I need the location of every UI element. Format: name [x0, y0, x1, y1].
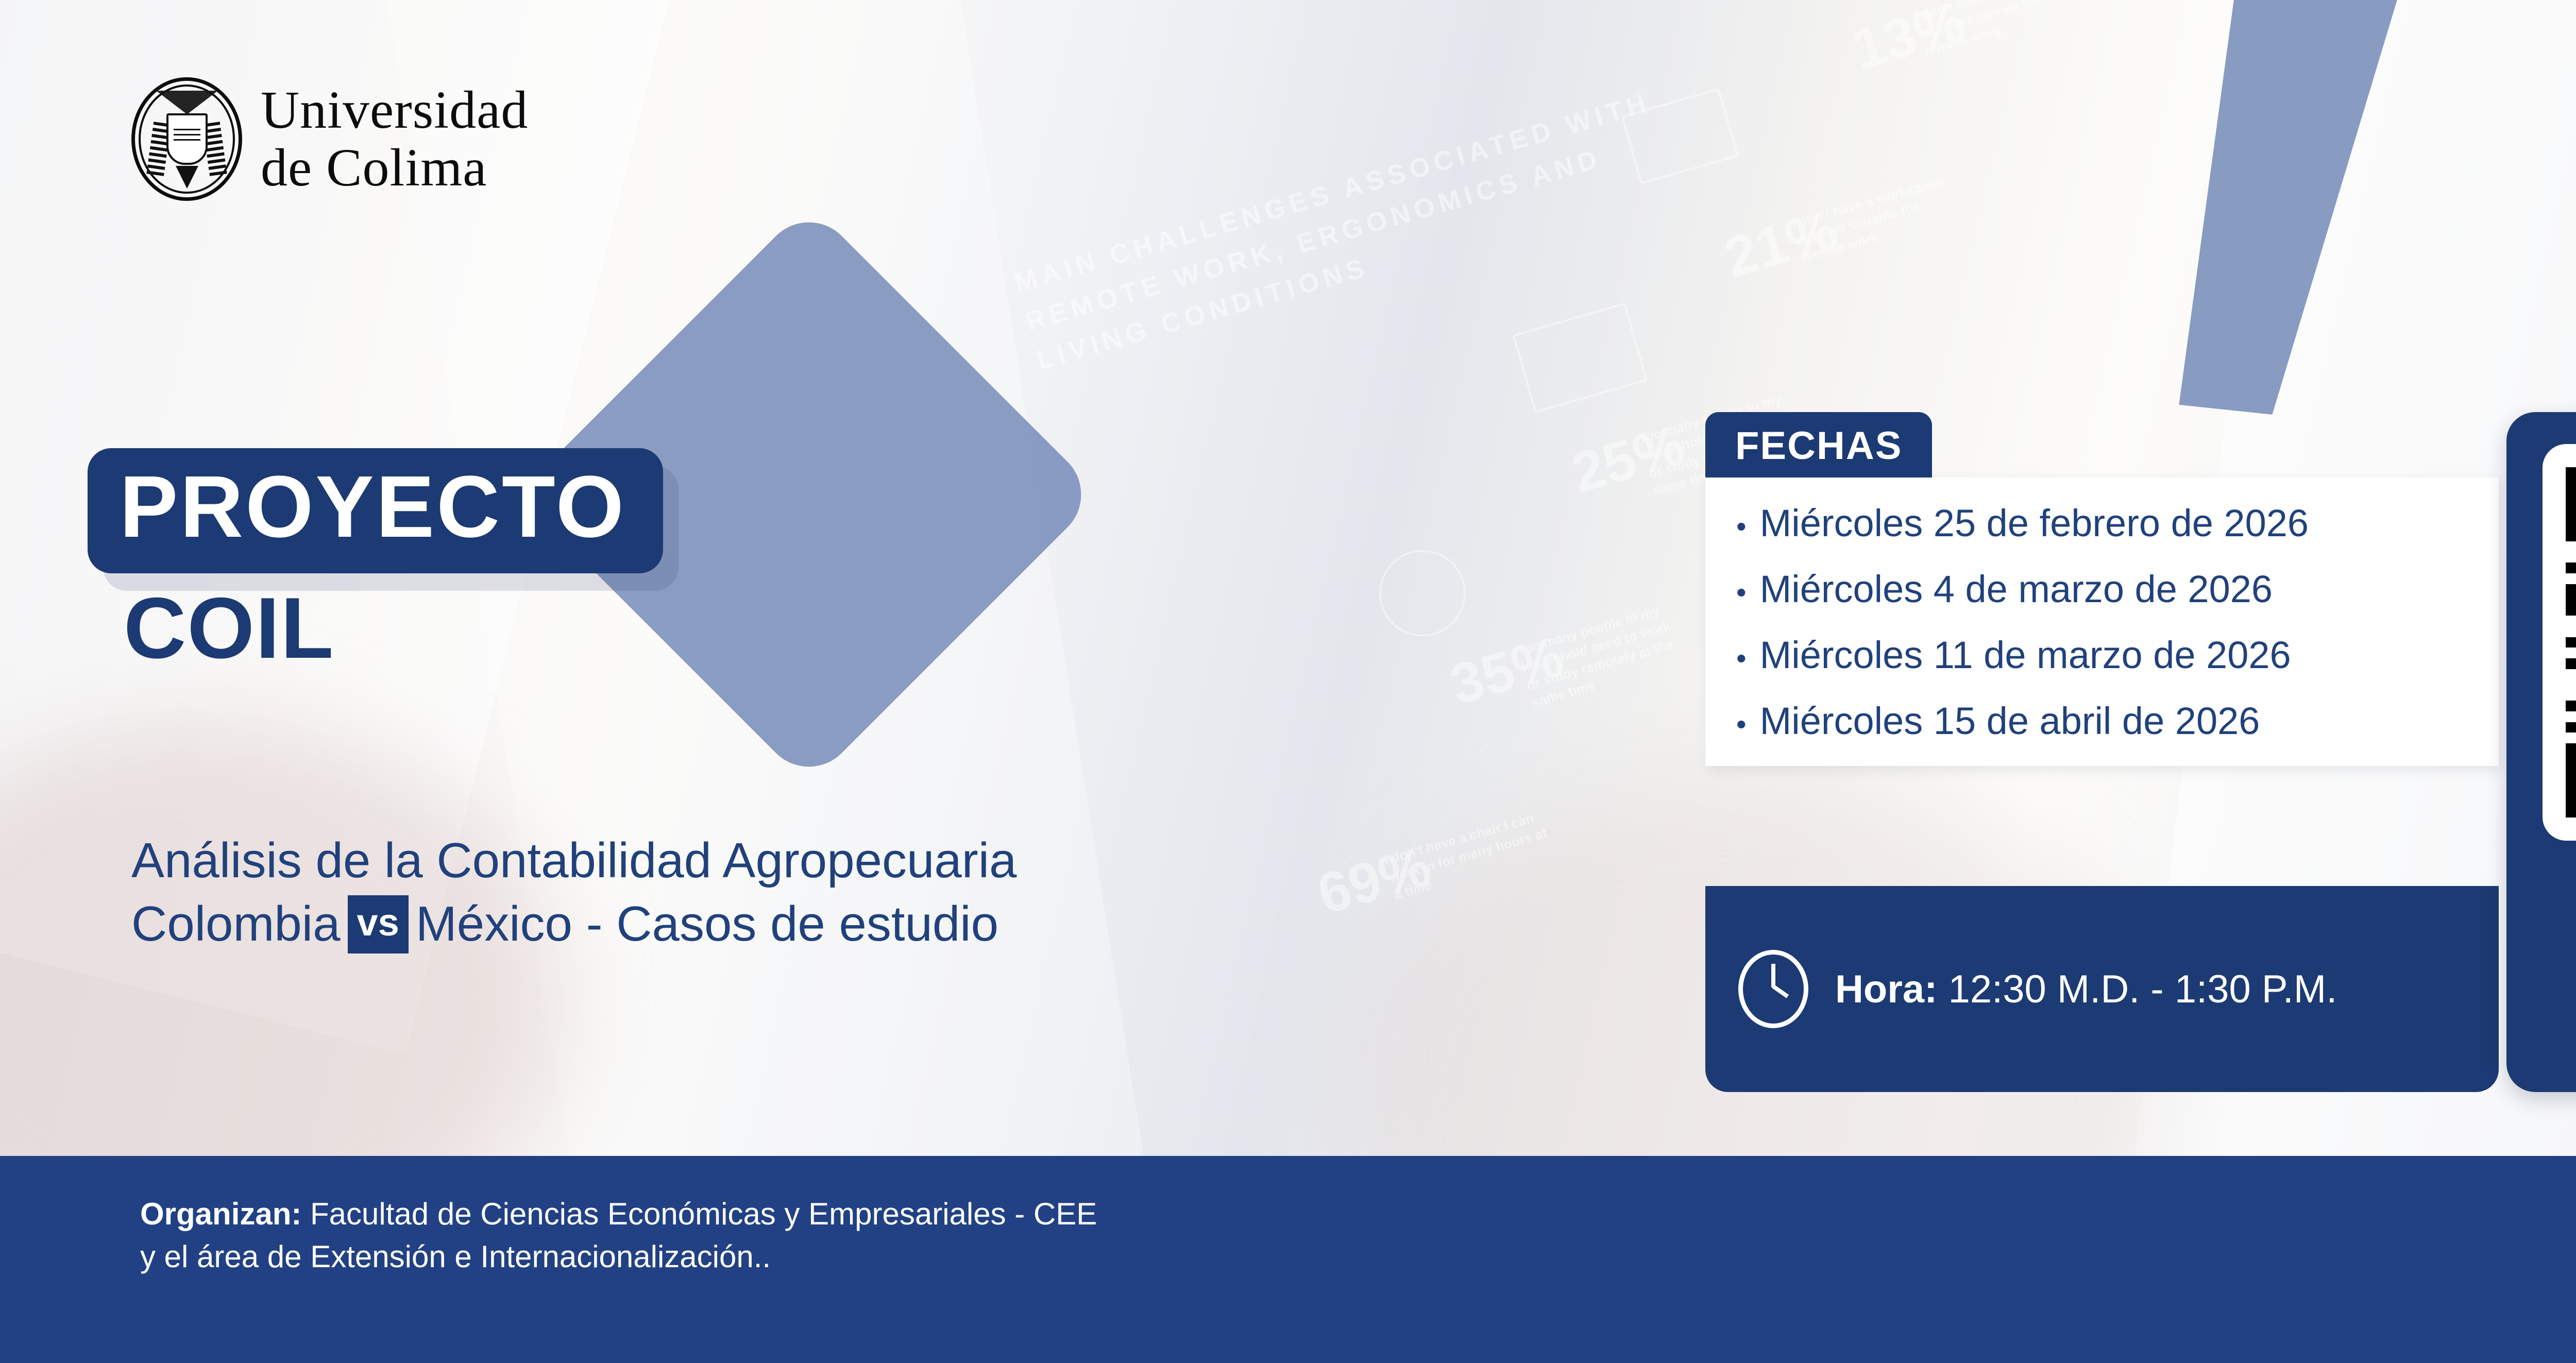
dates-list-container: •Miércoles 25 de febrero de 2026 •Miérco…	[1705, 478, 2499, 766]
hero-subtitle-line1: Análisis de la Contabilidad Agropecuaria	[131, 829, 1016, 893]
university-wordmark: Universidad de Colima	[261, 84, 528, 194]
time-text: Hora: 12:30 M.D. - 1:30 P.M.	[1835, 967, 2337, 1012]
list-item: •Miércoles 11 de marzo de 2026	[1736, 636, 2468, 674]
footer-bar: Organizan: Facultad de Ciencias Económic…	[0, 1156, 2576, 1363]
bullet-icon: •	[1736, 710, 1747, 739]
qr-card[interactable]: Plataforma Meet	[2506, 412, 2576, 1092]
university-seal-icon	[131, 77, 242, 201]
time-bar: Hora: 12:30 M.D. - 1:30 P.M.	[1705, 886, 2499, 1092]
bullet-icon: •	[1736, 512, 1747, 541]
organizers-line2: y el área de Extensión e Internacionaliz…	[140, 1236, 1097, 1279]
list-item: •Miércoles 25 de febrero de 2026	[1736, 504, 2468, 542]
vs-badge: vs	[348, 895, 409, 953]
clock-icon	[1738, 950, 1808, 1028]
university-logo: Universidad de Colima	[131, 77, 528, 201]
hero-subtitle: Análisis de la Contabilidad Agropecuaria…	[131, 829, 1016, 959]
university-name-line2: de Colima	[261, 142, 528, 194]
qr-code-icon[interactable]	[2566, 467, 2576, 817]
university-name-line1: Universidad	[261, 84, 528, 137]
hero-subtitle-line2: ColombiavsMéxico - Casos de estudio	[131, 893, 1016, 959]
poster-canvas: MAIN CHALLENGES ASSOCIATED WITH REMOTE W…	[0, 0, 2576, 1363]
time-label: Hora:	[1835, 967, 1937, 1011]
date-text: Miércoles 4 de marzo de 2026	[1760, 570, 2273, 608]
qr-code-container	[2543, 444, 2576, 841]
list-item: •Miércoles 15 de abril de 2026	[1736, 702, 2468, 740]
date-text: Miércoles 15 de abril de 2026	[1760, 702, 2260, 740]
country-mexico: México - Casos de estudio	[416, 896, 998, 951]
date-text: Miércoles 11 de marzo de 2026	[1760, 636, 2291, 674]
project-badge: PROYECTO	[88, 448, 663, 573]
project-coil-label: COIL	[124, 585, 334, 671]
bullet-icon: •	[1736, 578, 1747, 607]
organizers-line1: Organizan: Facultad de Ciencias Económic…	[140, 1193, 1097, 1236]
dates-list: •Miércoles 25 de febrero de 2026 •Miérco…	[1736, 504, 2468, 740]
organizers-prefix: Organizan:	[140, 1197, 301, 1231]
time-value: 12:30 M.D. - 1:30 P.M.	[1948, 967, 2337, 1011]
bullet-icon: •	[1736, 644, 1747, 673]
organizers-text: Organizan: Facultad de Ciencias Económic…	[140, 1193, 1097, 1279]
project-badge-label: PROYECTO	[120, 462, 626, 553]
list-item: •Miércoles 4 de marzo de 2026	[1736, 570, 2468, 608]
date-text: Miércoles 25 de febrero de 2026	[1760, 504, 2309, 542]
dates-card-tab: FECHAS	[1705, 412, 1932, 478]
dates-card: FECHAS •Miércoles 25 de febrero de 2026 …	[1705, 412, 2499, 766]
country-colombia: Colombia	[131, 896, 341, 951]
organizers-line1-text: Facultad de Ciencias Económicas y Empres…	[310, 1197, 1097, 1231]
